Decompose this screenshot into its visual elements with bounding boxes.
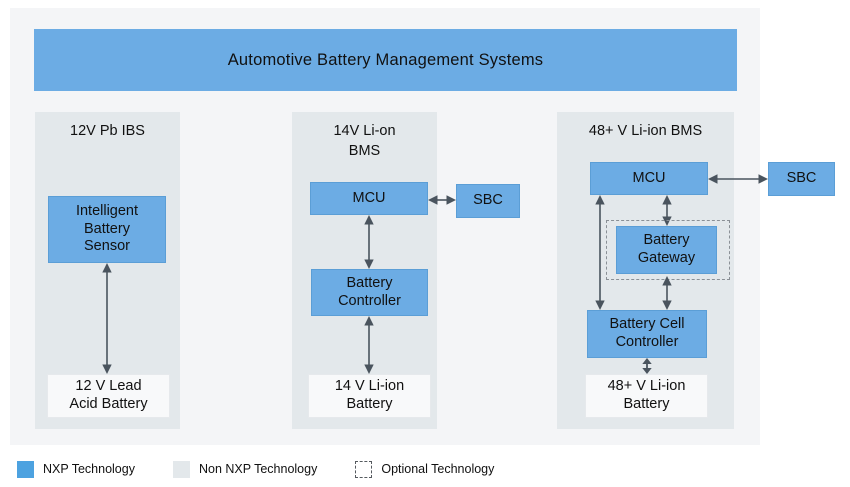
block-label-line3: Sensor	[76, 238, 138, 256]
column-title-12v-pb-ibs: 12V Pb IBS	[35, 122, 180, 142]
block-14v-li-ion-battery[interactable]: 14 V Li-ion Battery	[308, 374, 431, 418]
block-label-line1: Battery	[638, 232, 695, 250]
block-label-line1: 12 V Lead	[69, 378, 147, 396]
block-mcu-48v[interactable]: MCU	[590, 162, 708, 195]
arrow-mcu-to-battery-cell-controller-48v	[594, 195, 606, 310]
block-label-line2: Controller	[338, 293, 401, 311]
block-12v-lead-acid-battery[interactable]: 12 V Lead Acid Battery	[47, 374, 170, 418]
block-label-line2: Battery	[335, 396, 404, 414]
column-title-14v-li-on-bms: 14V Li-on BMS	[292, 122, 437, 161]
diagram-title-banner: Automotive Battery Management Systems	[34, 29, 737, 91]
block-48v-li-ion-battery[interactable]: 48+ V Li-ion Battery	[585, 374, 708, 418]
block-label-line1: Battery	[338, 275, 401, 293]
arrow-battery-controller-to-14v-battery	[363, 316, 375, 374]
block-label-line2: Acid Battery	[69, 396, 147, 414]
block-label-line1: Battery Cell	[610, 316, 685, 334]
block-label-line2: Gateway	[638, 250, 695, 268]
block-label-line1: 48+ V Li-ion	[608, 378, 686, 396]
column-title-48v-li-ion-bms: 48+ V Li-ion BMS	[557, 122, 734, 142]
block-intelligent-battery-sensor[interactable]: Intelligent Battery Sensor	[48, 196, 166, 263]
diagram-canvas: Automotive Battery Management Systems 12…	[0, 0, 850, 487]
block-label-line2: Battery	[76, 221, 138, 239]
non-nxp-gray-swatch-icon	[173, 461, 190, 478]
block-label: MCU	[632, 170, 665, 188]
legend-label: Optional Technology	[381, 462, 494, 476]
block-label-line1: Intelligent	[76, 203, 138, 221]
column-title-line2: BMS	[292, 142, 437, 162]
arrow-mcu-to-battery-controller-14v	[363, 215, 375, 269]
optional-dashed-swatch-icon	[355, 461, 372, 478]
legend-item-optional-technology: Optional Technology	[355, 461, 494, 478]
block-label: SBC	[787, 170, 817, 188]
block-label: SBC	[473, 192, 503, 210]
nxp-blue-swatch-icon	[17, 461, 34, 478]
block-label-line2: Controller	[610, 334, 685, 352]
block-mcu-14v[interactable]: MCU	[310, 182, 428, 215]
block-sbc-48v[interactable]: SBC	[768, 162, 835, 196]
legend-label: NXP Technology	[43, 462, 135, 476]
page-title: Automotive Battery Management Systems	[228, 51, 544, 70]
block-battery-controller-14v[interactable]: Battery Controller	[311, 269, 428, 316]
block-battery-cell-controller-48v[interactable]: Battery Cell Controller	[587, 310, 707, 358]
column-title-line1: 14V Li-on	[292, 122, 437, 142]
arrow-mcu-to-sbc-14v	[428, 194, 456, 206]
block-label: MCU	[352, 190, 385, 208]
arrow-mcu-to-sbc-48v	[708, 173, 768, 185]
legend: NXP Technology Non NXP Technology Option…	[17, 459, 494, 479]
block-label-line2: Battery	[608, 396, 686, 414]
block-label-line1: 14 V Li-ion	[335, 378, 404, 396]
block-battery-gateway-48v[interactable]: Battery Gateway	[616, 226, 717, 274]
arrow-battery-gateway-to-battery-cell-controller-48v	[661, 276, 673, 310]
arrow-ibs-to-12v-battery	[101, 263, 113, 374]
arrow-battery-cell-controller-to-48v-battery	[641, 358, 653, 374]
legend-item-nxp-technology: NXP Technology	[17, 461, 135, 478]
legend-label: Non NXP Technology	[199, 462, 317, 476]
block-sbc-14v[interactable]: SBC	[456, 184, 520, 218]
legend-item-non-nxp-technology: Non NXP Technology	[173, 461, 317, 478]
